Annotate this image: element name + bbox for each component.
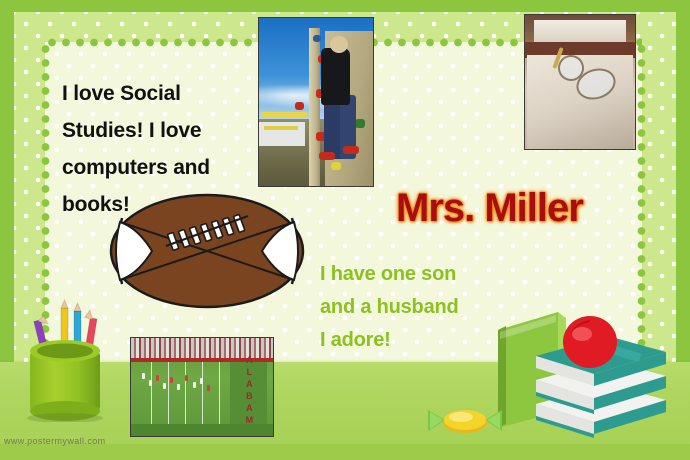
intro-line-2: Studies! I love [62, 112, 252, 149]
field-player [193, 382, 196, 388]
field-player [207, 385, 210, 391]
family-line-3: I adore! [320, 324, 520, 357]
climber-body [321, 48, 351, 105]
page-title: Mrs. Miller [396, 186, 583, 231]
climb-hold-7 [331, 162, 341, 170]
glasses-photo [524, 14, 636, 150]
field-player [142, 373, 145, 379]
field-players [137, 371, 225, 393]
pencil-cup-graphic [18, 292, 112, 422]
field-player [149, 380, 152, 386]
climb-hold-6 [313, 35, 321, 42]
intro-text-block: I love Social Studies! I love computers … [62, 75, 252, 223]
family-line-1: I have one son [320, 258, 520, 291]
climbing-photo-post [309, 28, 320, 186]
family-line-2: and a husband [320, 291, 520, 324]
watermark: www.postermywall.com [4, 436, 106, 446]
family-text-block: I have one son and a husband I adore! [320, 258, 520, 357]
climber-shoe-left [319, 152, 335, 160]
football-field-photo: ALABAMA [130, 337, 274, 437]
field-player [163, 383, 166, 389]
field-player [185, 375, 188, 381]
intro-line-4: books! [62, 186, 252, 223]
intro-line-3: computers and [62, 149, 252, 186]
climb-hold-4 [295, 102, 304, 110]
field-player [170, 377, 173, 383]
climber-shoe-right [343, 146, 359, 154]
climbing-photo-yellow-bar-2 [264, 126, 298, 130]
climb-hold-5 [355, 119, 365, 128]
field-player [177, 384, 180, 390]
field-sideline [131, 424, 273, 436]
field-endzone-text: ALABAMA [233, 363, 264, 430]
intro-line-1: I love Social [62, 75, 252, 112]
field-player [200, 378, 203, 384]
field-player [156, 375, 159, 381]
candy-graphic [428, 404, 502, 438]
climbing-photo-yellow-bar [261, 112, 307, 117]
poster-canvas: ALABAMA [0, 0, 690, 460]
climbing-photo [258, 17, 374, 187]
